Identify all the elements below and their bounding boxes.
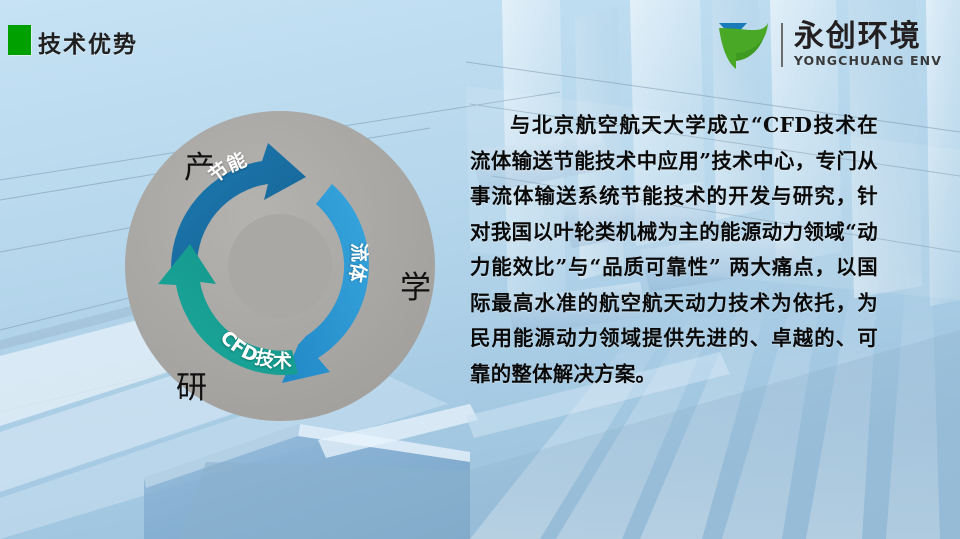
presentation-slide: 技术优势 永创环境 YONGCHUANG ENV (0, 0, 960, 539)
outer-label-yan: 研 (176, 370, 207, 406)
outer-label-xue: 学 (400, 270, 431, 306)
cycle-diagram: 节能 流体 CFD技术 产 学 研 (118, 100, 448, 435)
title-accent-marker (8, 25, 31, 55)
logo-swoosh-icon (716, 19, 774, 71)
body-paragraph: 与北京航空航天大学成立“CFD技术在流体输送节能技术中应用”技术中心，专门从事流… (470, 108, 878, 392)
logo-wordmark: 永创环境 YONGCHUANG ENV (794, 22, 942, 69)
logo-name-en: YONGCHUANG ENV (794, 53, 942, 68)
page-title: 技术优势 (38, 25, 138, 59)
cycle-diagram-graphic: 节能 流体 CFD技术 产 学 研 (118, 100, 448, 435)
company-logo: 永创环境 YONGCHUANG ENV (716, 16, 942, 74)
slide-header: 技术优势 永创环境 YONGCHUANG ENV (0, 0, 960, 84)
logo-divider (781, 23, 783, 67)
outer-label-chan: 产 (184, 150, 215, 186)
logo-name-cn: 永创环境 (794, 22, 942, 53)
diagram-hub (228, 214, 332, 318)
